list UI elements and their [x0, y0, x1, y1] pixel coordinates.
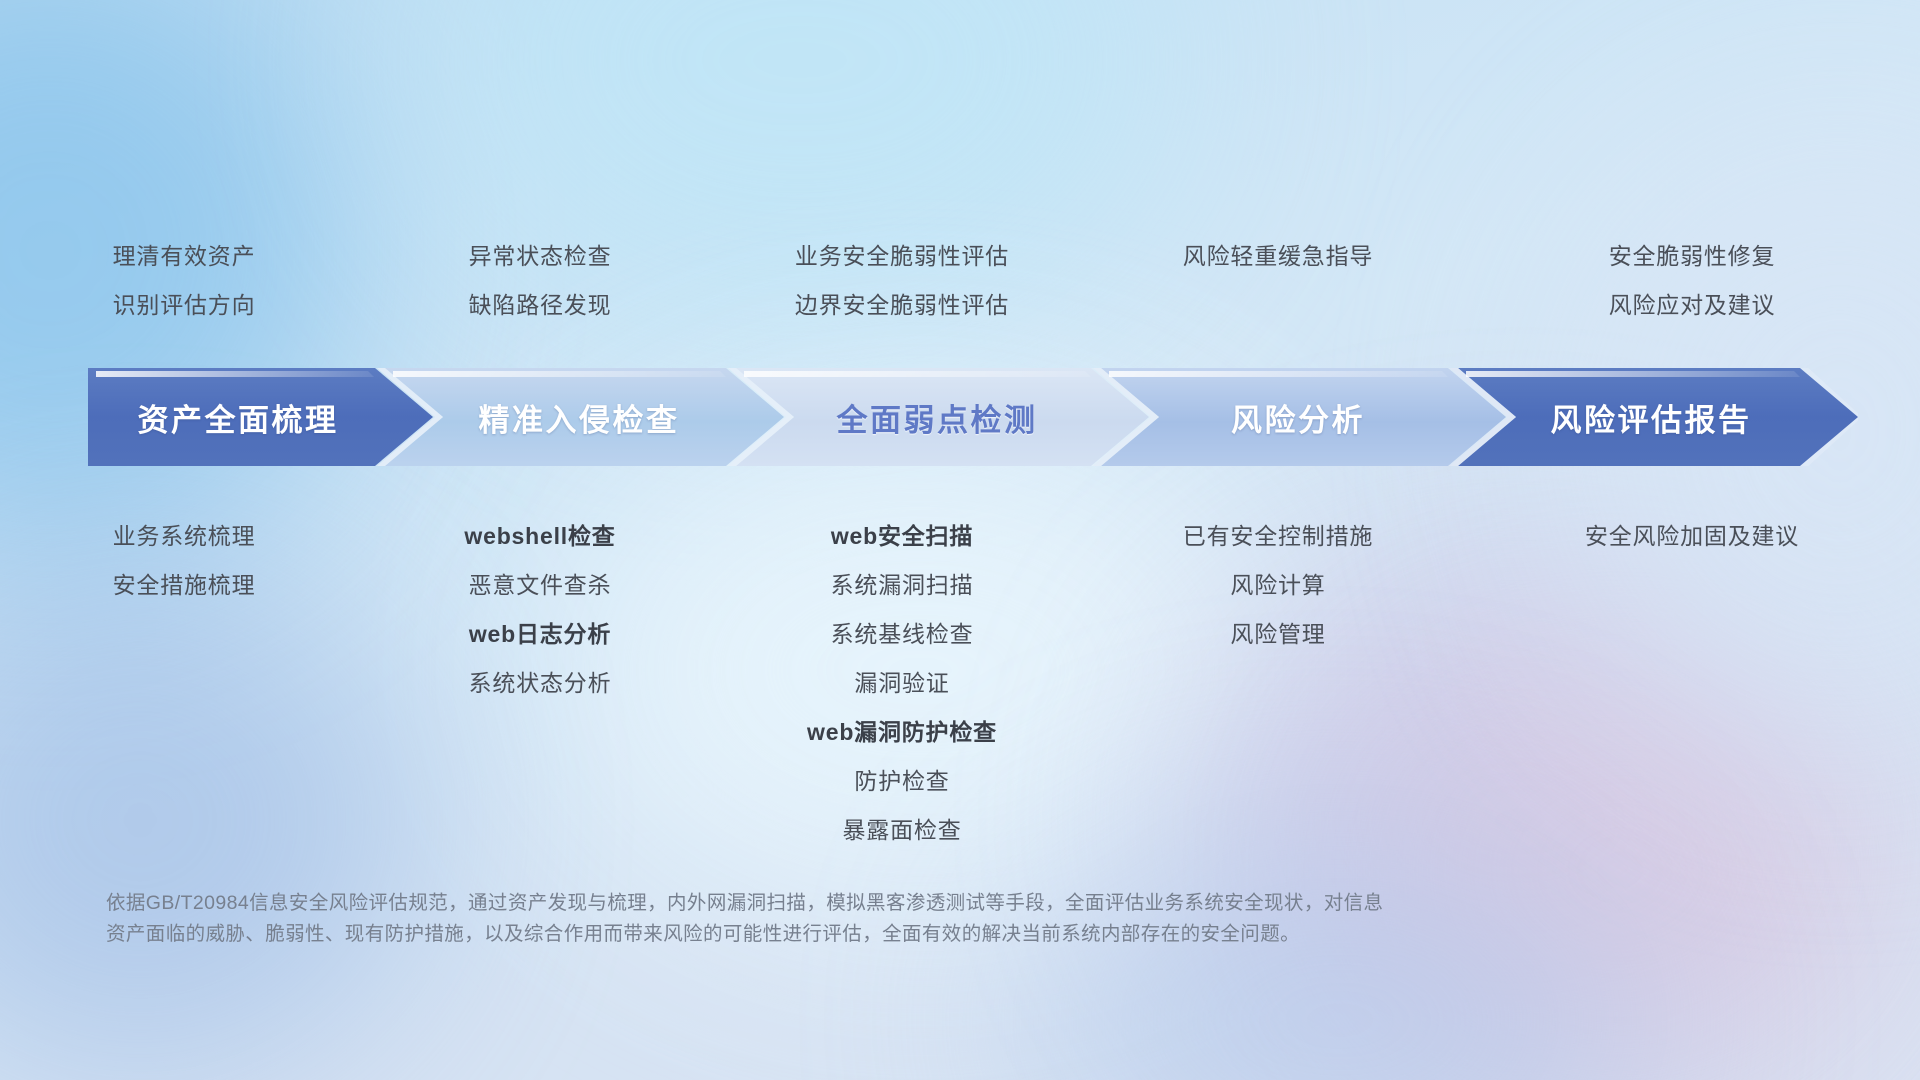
bottom-label: 安全措施梳理: [113, 561, 256, 610]
bottom-label: 系统漏洞扫描: [831, 561, 974, 610]
bottom-label: 系统状态分析: [469, 659, 612, 708]
bottom-labels-weakness-detection: web安全扫描 系统漏洞扫描 系统基线检查 漏洞验证 web漏洞防护检查 防护检…: [712, 512, 1092, 855]
footer-line-2: 资产面临的威胁、脆弱性、现有防护措施，以及综合作用而带来风险的可能性进行评估，全…: [106, 919, 1636, 950]
bottom-label: 系统基线检查: [831, 610, 974, 659]
bottom-labels-asset-inventory: 业务系统梳理 安全措施梳理: [0, 512, 368, 855]
stage-title: 风险评估报告: [1551, 395, 1752, 440]
top-labels-assessment-report: 安全脆弱性修复 风险应对及建议: [1464, 232, 1920, 330]
process-chevron-band: 资产全面梳理 精准入侵检查 全面弱点检测 风险分析 风险评估报告: [88, 368, 1858, 466]
top-label: 识别评估方向: [113, 281, 256, 330]
bottom-label: webshell检查: [464, 512, 615, 561]
bottom-label: 已有安全控制措施: [1183, 512, 1373, 561]
stage-title: 全面弱点检测: [837, 395, 1038, 440]
top-label: 业务安全脆弱性评估: [795, 232, 1009, 281]
top-label: 风险应对及建议: [1609, 281, 1776, 330]
top-output-labels: 理清有效资产 识别评估方向 异常状态检查 缺陷路径发现 业务安全脆弱性评估 边界…: [0, 232, 1920, 330]
bottom-label: 安全风险加固及建议: [1585, 512, 1799, 561]
stage-chevron-risk-analysis[interactable]: 风险分析: [1128, 368, 1468, 466]
bottom-label: web漏洞防护检查: [807, 708, 997, 757]
bottom-label: 业务系统梳理: [113, 512, 256, 561]
stage-chevron-intrusion-check[interactable]: 精准入侵检查: [414, 368, 744, 466]
top-label: 边界安全脆弱性评估: [795, 281, 1009, 330]
bottom-label: 恶意文件查杀: [469, 561, 612, 610]
top-label: 理清有效资产: [113, 232, 256, 281]
bottom-labels-intrusion-check: webshell检查 恶意文件查杀 web日志分析 系统状态分析: [368, 512, 712, 855]
top-label: 缺陷路径发现: [469, 281, 612, 330]
top-label: 异常状态检查: [469, 232, 612, 281]
bottom-output-labels: 业务系统梳理 安全措施梳理 webshell检查 恶意文件查杀 web日志分析 …: [0, 512, 1920, 855]
bottom-label: 防护检查: [854, 757, 949, 806]
bottom-label: 风险计算: [1230, 561, 1325, 610]
stage-title: 资产全面梳理: [138, 395, 339, 440]
top-labels-weakness-detection: 业务安全脆弱性评估 边界安全脆弱性评估: [712, 232, 1092, 330]
bottom-label: web日志分析: [469, 610, 611, 659]
top-labels-risk-analysis: 风险轻重缓急指导: [1092, 232, 1464, 330]
stage-chevron-assessment-report[interactable]: 风险评估报告: [1486, 368, 1816, 466]
bottom-label: 风险管理: [1230, 610, 1325, 659]
footer-description: 依据GB/T20984信息安全风险评估规范，通过资产发现与梳理，内外网漏洞扫描，…: [106, 888, 1636, 950]
diagram-stage: 理清有效资产 识别评估方向 异常状态检查 缺陷路径发现 业务安全脆弱性评估 边界…: [0, 0, 1920, 1080]
stage-chevron-asset-inventory[interactable]: 资产全面梳理: [88, 368, 388, 466]
top-labels-intrusion-check: 异常状态检查 缺陷路径发现: [368, 232, 712, 330]
stage-chevron-weakness-detection[interactable]: 全面弱点检测: [768, 368, 1106, 466]
top-label: 风险轻重缓急指导: [1183, 232, 1373, 281]
bottom-label: 暴露面检查: [843, 806, 962, 855]
bottom-label: 漏洞验证: [854, 659, 949, 708]
stage-title: 精准入侵检查: [479, 395, 680, 440]
top-labels-asset-inventory: 理清有效资产 识别评估方向: [0, 232, 368, 330]
bottom-label: web安全扫描: [831, 512, 973, 561]
footer-line-1: 依据GB/T20984信息安全风险评估规范，通过资产发现与梳理，内外网漏洞扫描，…: [106, 888, 1636, 919]
stage-title: 风险分析: [1231, 395, 1365, 440]
bottom-labels-risk-analysis: 已有安全控制措施 风险计算 风险管理: [1092, 512, 1464, 855]
top-label: 安全脆弱性修复: [1609, 232, 1776, 281]
bottom-labels-assessment-report: 安全风险加固及建议: [1464, 512, 1920, 855]
